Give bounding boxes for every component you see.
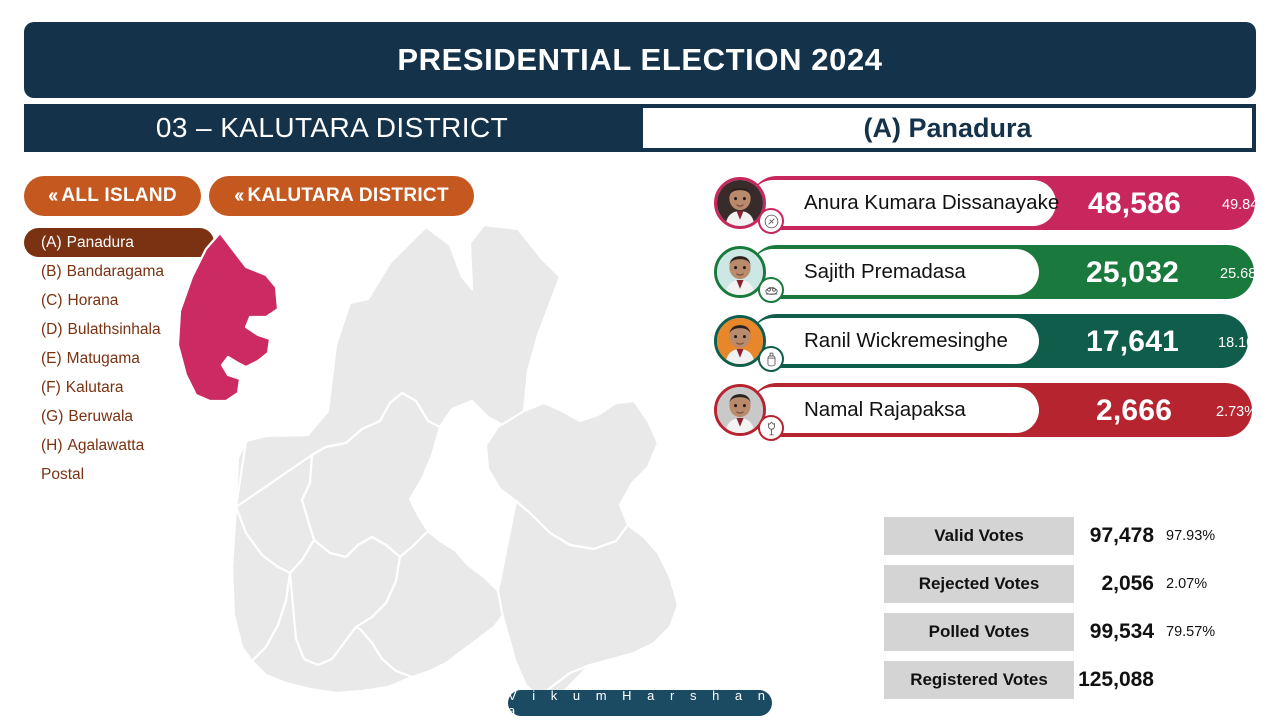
candidate-row[interactable]: Ranil Wickremesinghe17,64118.10% xyxy=(714,314,1254,368)
stat-value: 99,534 xyxy=(1074,613,1154,651)
gas-cylinder-icon xyxy=(758,346,784,372)
district-title: 03 – KALUTARA DISTRICT xyxy=(24,104,640,152)
stat-label: Polled Votes xyxy=(884,613,1074,651)
division-name: Matugama xyxy=(67,350,140,368)
candidate-row[interactable]: Anura Kumara Dissanayake48,58649.84% xyxy=(714,176,1254,230)
page-title: PRESIDENTIAL ELECTION 2024 xyxy=(397,42,882,78)
candidate-vote-percent: 18.10% xyxy=(1218,335,1267,351)
division-title-box: (A) Panadura xyxy=(641,106,1254,150)
watermark-label: V i k u m H a r s h a n a xyxy=(508,688,772,718)
stat-row: Registered Votes125,088 xyxy=(884,661,1254,699)
candidate-vote-count: 48,586 xyxy=(1088,187,1181,221)
candidate-vote-percent: 25.68% xyxy=(1220,266,1269,282)
division-name: Panadura xyxy=(67,234,134,252)
stat-value: 2,056 xyxy=(1074,565,1154,603)
flower-bud-icon xyxy=(758,415,784,441)
candidate-name: Sajith Premadasa xyxy=(804,260,966,284)
candidate-row[interactable]: Sajith Premadasa25,03225.68% xyxy=(714,245,1254,299)
candidate-vote-bar: Namal Rajapaksa2,6662.73% xyxy=(750,383,1252,437)
division-title-label: (A) Panadura xyxy=(863,113,1031,144)
all-island-button-label: ALL ISLAND xyxy=(61,185,177,207)
division-letter: (B) xyxy=(41,263,62,281)
candidate-vote-percent: 2.73% xyxy=(1216,404,1257,420)
division-name: Bulathsinhala xyxy=(68,321,161,339)
back-to-district-button[interactable]: ‹‹ KALUTARA DISTRICT xyxy=(209,176,474,216)
candidate-vote-count: 2,666 xyxy=(1096,394,1172,428)
division-name: Postal xyxy=(41,466,84,484)
stat-label: Rejected Votes xyxy=(884,565,1074,603)
candidate-name: Anura Kumara Dissanayake xyxy=(804,191,1059,215)
stat-label: Registered Votes xyxy=(884,661,1074,699)
division-name: Kalutara xyxy=(66,379,124,397)
candidate-vote-bar: Anura Kumara Dissanayake48,58649.84% xyxy=(750,176,1255,230)
stat-percent: 79.57% xyxy=(1166,613,1215,651)
candidate-name-pill: Ranil Wickremesinghe xyxy=(750,318,1039,364)
map-svg xyxy=(150,215,760,715)
stat-value: 97,478 xyxy=(1074,517,1154,555)
candidate-vote-count: 25,032 xyxy=(1086,256,1179,290)
division-letter: (D) xyxy=(41,321,63,339)
district-button-label: KALUTARA DISTRICT xyxy=(247,185,448,207)
candidate-row[interactable]: Namal Rajapaksa2,6662.73% xyxy=(714,383,1254,437)
map-region-panadura-selected xyxy=(178,233,278,401)
division-name: Beruwala xyxy=(68,408,133,426)
telephone-icon xyxy=(758,277,784,303)
chevron-left-icon: ‹‹ xyxy=(234,185,241,208)
division-name: Agalawatta xyxy=(68,437,145,455)
division-name: Horana xyxy=(68,292,119,310)
candidate-name-pill: Anura Kumara Dissanayake xyxy=(750,180,1056,226)
stat-percent: 2.07% xyxy=(1166,565,1207,603)
candidate-name-pill: Sajith Premadasa xyxy=(750,249,1039,295)
kalutara-district-map[interactable] xyxy=(150,215,760,715)
stat-value: 125,088 xyxy=(1074,661,1154,699)
division-letter: (E) xyxy=(41,350,62,368)
stat-row: Polled Votes99,53479.57% xyxy=(884,613,1254,651)
election-dashboard: PRESIDENTIAL ELECTION 2024 03 – KALUTARA… xyxy=(0,0,1280,720)
stat-row: Valid Votes97,47897.93% xyxy=(884,517,1254,555)
stat-row: Rejected Votes2,0562.07% xyxy=(884,565,1254,603)
chevron-left-icon: ‹‹ xyxy=(48,185,55,208)
back-to-all-island-button[interactable]: ‹‹ ALL ISLAND xyxy=(24,176,201,216)
division-letter: (H) xyxy=(41,437,63,455)
candidate-vote-bar: Ranil Wickremesinghe17,64118.10% xyxy=(750,314,1248,368)
candidate-vote-count: 17,641 xyxy=(1086,325,1179,359)
division-letter: (A) xyxy=(41,234,62,252)
stat-percent: 97.93% xyxy=(1166,517,1215,555)
compass-icon xyxy=(758,208,784,234)
division-letter: (C) xyxy=(41,292,63,310)
division-letter: (F) xyxy=(41,379,61,397)
candidate-name: Namal Rajapaksa xyxy=(804,398,966,422)
stat-label: Valid Votes xyxy=(884,517,1074,555)
candidate-name-pill: Namal Rajapaksa xyxy=(750,387,1039,433)
division-letter: (G) xyxy=(41,408,63,426)
page-title-bar: PRESIDENTIAL ELECTION 2024 xyxy=(24,22,1256,98)
district-title-label: 03 – KALUTARA DISTRICT xyxy=(156,112,508,144)
watermark: V i k u m H a r s h a n a xyxy=(508,690,772,716)
candidate-vote-percent: 49.84% xyxy=(1222,197,1271,213)
candidate-vote-bar: Sajith Premadasa25,03225.68% xyxy=(750,245,1254,299)
candidate-name: Ranil Wickremesinghe xyxy=(804,329,1008,353)
